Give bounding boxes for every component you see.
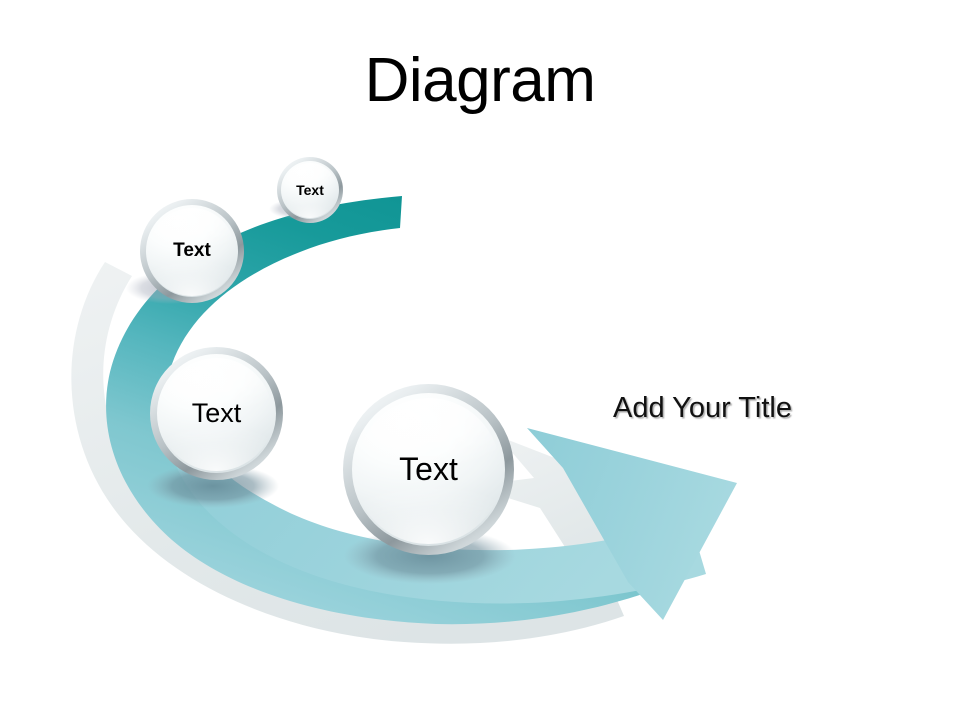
diagram-node-1-label: Text [296,182,324,198]
diagram-node-2-label: Text [173,240,211,262]
diagram-node-4-label: Text [399,451,458,488]
arrow-caption[interactable]: Add Your Title [613,392,792,425]
curved-arrow-graphic [0,0,960,720]
diagram-node-1[interactable]: Text [277,157,343,223]
slide-canvas: Diagram [0,0,960,720]
diagram-node-3[interactable]: Text [150,347,283,480]
diagram-node-4[interactable]: Text [343,384,514,555]
diagram-node-2[interactable]: Text [140,199,244,303]
diagram-node-3-label: Text [192,398,242,429]
